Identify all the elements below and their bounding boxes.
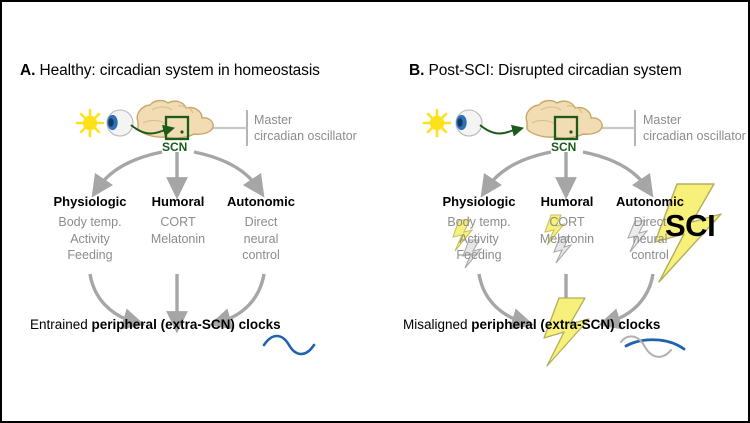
sun-icon-b <box>424 110 450 136</box>
sine-wave-icon-b-blue <box>626 340 684 349</box>
outcome-prefix-a: Entrained <box>30 317 92 332</box>
arrow-scn-to-autonomic-a <box>194 152 258 188</box>
arrow-autonomic-to-clocks-b <box>609 274 653 322</box>
pathway-items-autonomic-a: Direct neural control <box>215 214 307 264</box>
pathway-item: control <box>215 247 307 264</box>
lightning-bolt-icon-clocks <box>544 298 589 366</box>
panel-b: B. Post-SCI: Disrupted circadian system <box>377 2 750 423</box>
master-line-1: Master <box>254 112 357 128</box>
outcome-line-b: Misaligned peripheral (extra-SCN) clocks <box>403 317 660 332</box>
eye-icon-a <box>107 110 133 136</box>
retinohypothalamic-tract-b <box>480 125 511 133</box>
sine-wave-icon-a <box>264 336 314 354</box>
master-oscillator-label-a: Master circadian oscillator <box>254 112 357 144</box>
pathway-item: Feeding <box>409 247 549 264</box>
outcome-bold-a: peripheral (extra-SCN) clocks <box>92 317 281 332</box>
pathway-item: neural <box>215 231 307 248</box>
arrow-scn-to-physiologic-a <box>98 152 162 188</box>
panel-a: A. Healthy: circadian system in homeosta… <box>2 2 377 423</box>
pathway-item: Feeding <box>20 247 160 264</box>
scn-label-a: SCN <box>162 140 187 154</box>
pathway-head-autonomic-a: Autonomic <box>215 194 307 209</box>
sci-label: SCI <box>665 208 715 244</box>
pathway-item: control <box>604 247 696 264</box>
pathway-item: Direct <box>215 214 307 231</box>
outcome-prefix-b: Misaligned <box>403 317 471 332</box>
arrow-physiologic-to-clocks-a <box>90 274 134 322</box>
arrow-scn-to-physiologic-b <box>487 152 551 188</box>
brain-icon-a <box>137 101 213 138</box>
master-line-1: Master <box>643 112 746 128</box>
pathway-head-humoral-b: Humoral <box>526 194 608 209</box>
pathway-item: Melatonin <box>526 231 608 248</box>
pathway-item: Melatonin <box>137 231 219 248</box>
pathway-item: CORT <box>137 214 219 231</box>
outcome-line-a: Entrained peripheral (extra-SCN) clocks <box>30 317 281 332</box>
arrow-scn-to-autonomic-b <box>583 152 647 188</box>
brain-icon-b <box>526 101 602 138</box>
figure-container: A. Healthy: circadian system in homeosta… <box>0 0 750 423</box>
pathway-head-autonomic-b: Autonomic <box>604 194 696 209</box>
panel-a-diagram <box>2 2 377 423</box>
outcome-bold-b: peripheral (extra-SCN) clocks <box>471 317 660 332</box>
arrow-autonomic-to-clocks-a <box>220 274 264 322</box>
master-line-2: circadian oscillator <box>254 128 357 144</box>
pathway-items-humoral-a: CORT Melatonin <box>137 214 219 247</box>
master-line-2: circadian oscillator <box>643 128 746 144</box>
scn-label-b: SCN <box>551 140 576 154</box>
pathway-items-humoral-b: CORT Melatonin <box>526 214 608 247</box>
eye-icon-b <box>456 110 482 136</box>
pathway-item: CORT <box>526 214 608 231</box>
pathway-head-humoral-a: Humoral <box>137 194 219 209</box>
master-oscillator-label-b: Master circadian oscillator <box>643 112 746 144</box>
arrow-physiologic-to-clocks-b <box>479 274 523 322</box>
sun-icon-a <box>77 110 103 136</box>
